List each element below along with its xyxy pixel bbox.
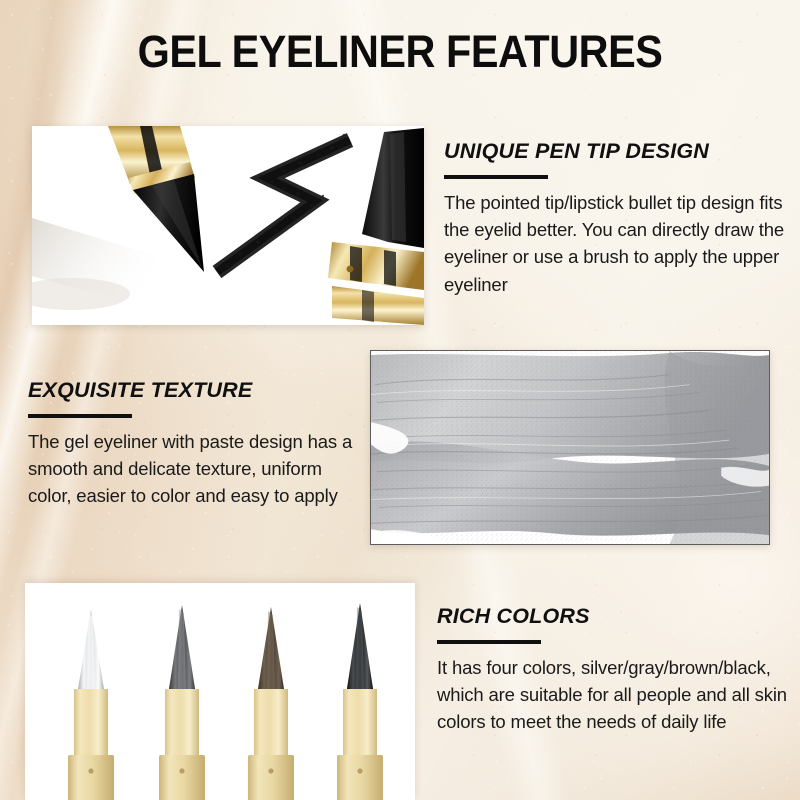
infographic-page: GEL EYELINER FEATURES <box>0 0 800 800</box>
feature-pen-tip: UNIQUE PEN TIP DESIGN The pointed tip/li… <box>444 139 784 298</box>
feature-pen-tip-title: UNIQUE PEN TIP DESIGN <box>444 139 784 164</box>
feature-pen-tip-rule <box>444 175 548 179</box>
feature-colors-body: It has four colors, silver/gray/brown/bl… <box>437 654 787 736</box>
feature-colors-title: RICH COLORS <box>437 604 787 629</box>
color-range-illustration <box>25 583 415 800</box>
feature-texture: EXQUISITE TEXTURE The gel eyeliner with … <box>28 378 358 510</box>
page-title: GEL EYELINER FEATURES <box>32 26 768 78</box>
feature-colors-rule <box>437 640 541 644</box>
pen-tip-illustration <box>32 126 424 325</box>
image-texture-swatch <box>370 350 770 545</box>
texture-illustration <box>371 351 769 544</box>
image-pen-tip <box>32 126 424 325</box>
feature-texture-body: The gel eyeliner with paste design has a… <box>28 428 358 510</box>
feature-texture-rule <box>28 414 132 418</box>
feature-pen-tip-body: The pointed tip/lipstick bullet tip desi… <box>444 189 784 298</box>
feature-texture-title: EXQUISITE TEXTURE <box>28 378 358 403</box>
image-color-range <box>25 583 415 800</box>
feature-colors: RICH COLORS It has four colors, silver/g… <box>437 604 787 736</box>
